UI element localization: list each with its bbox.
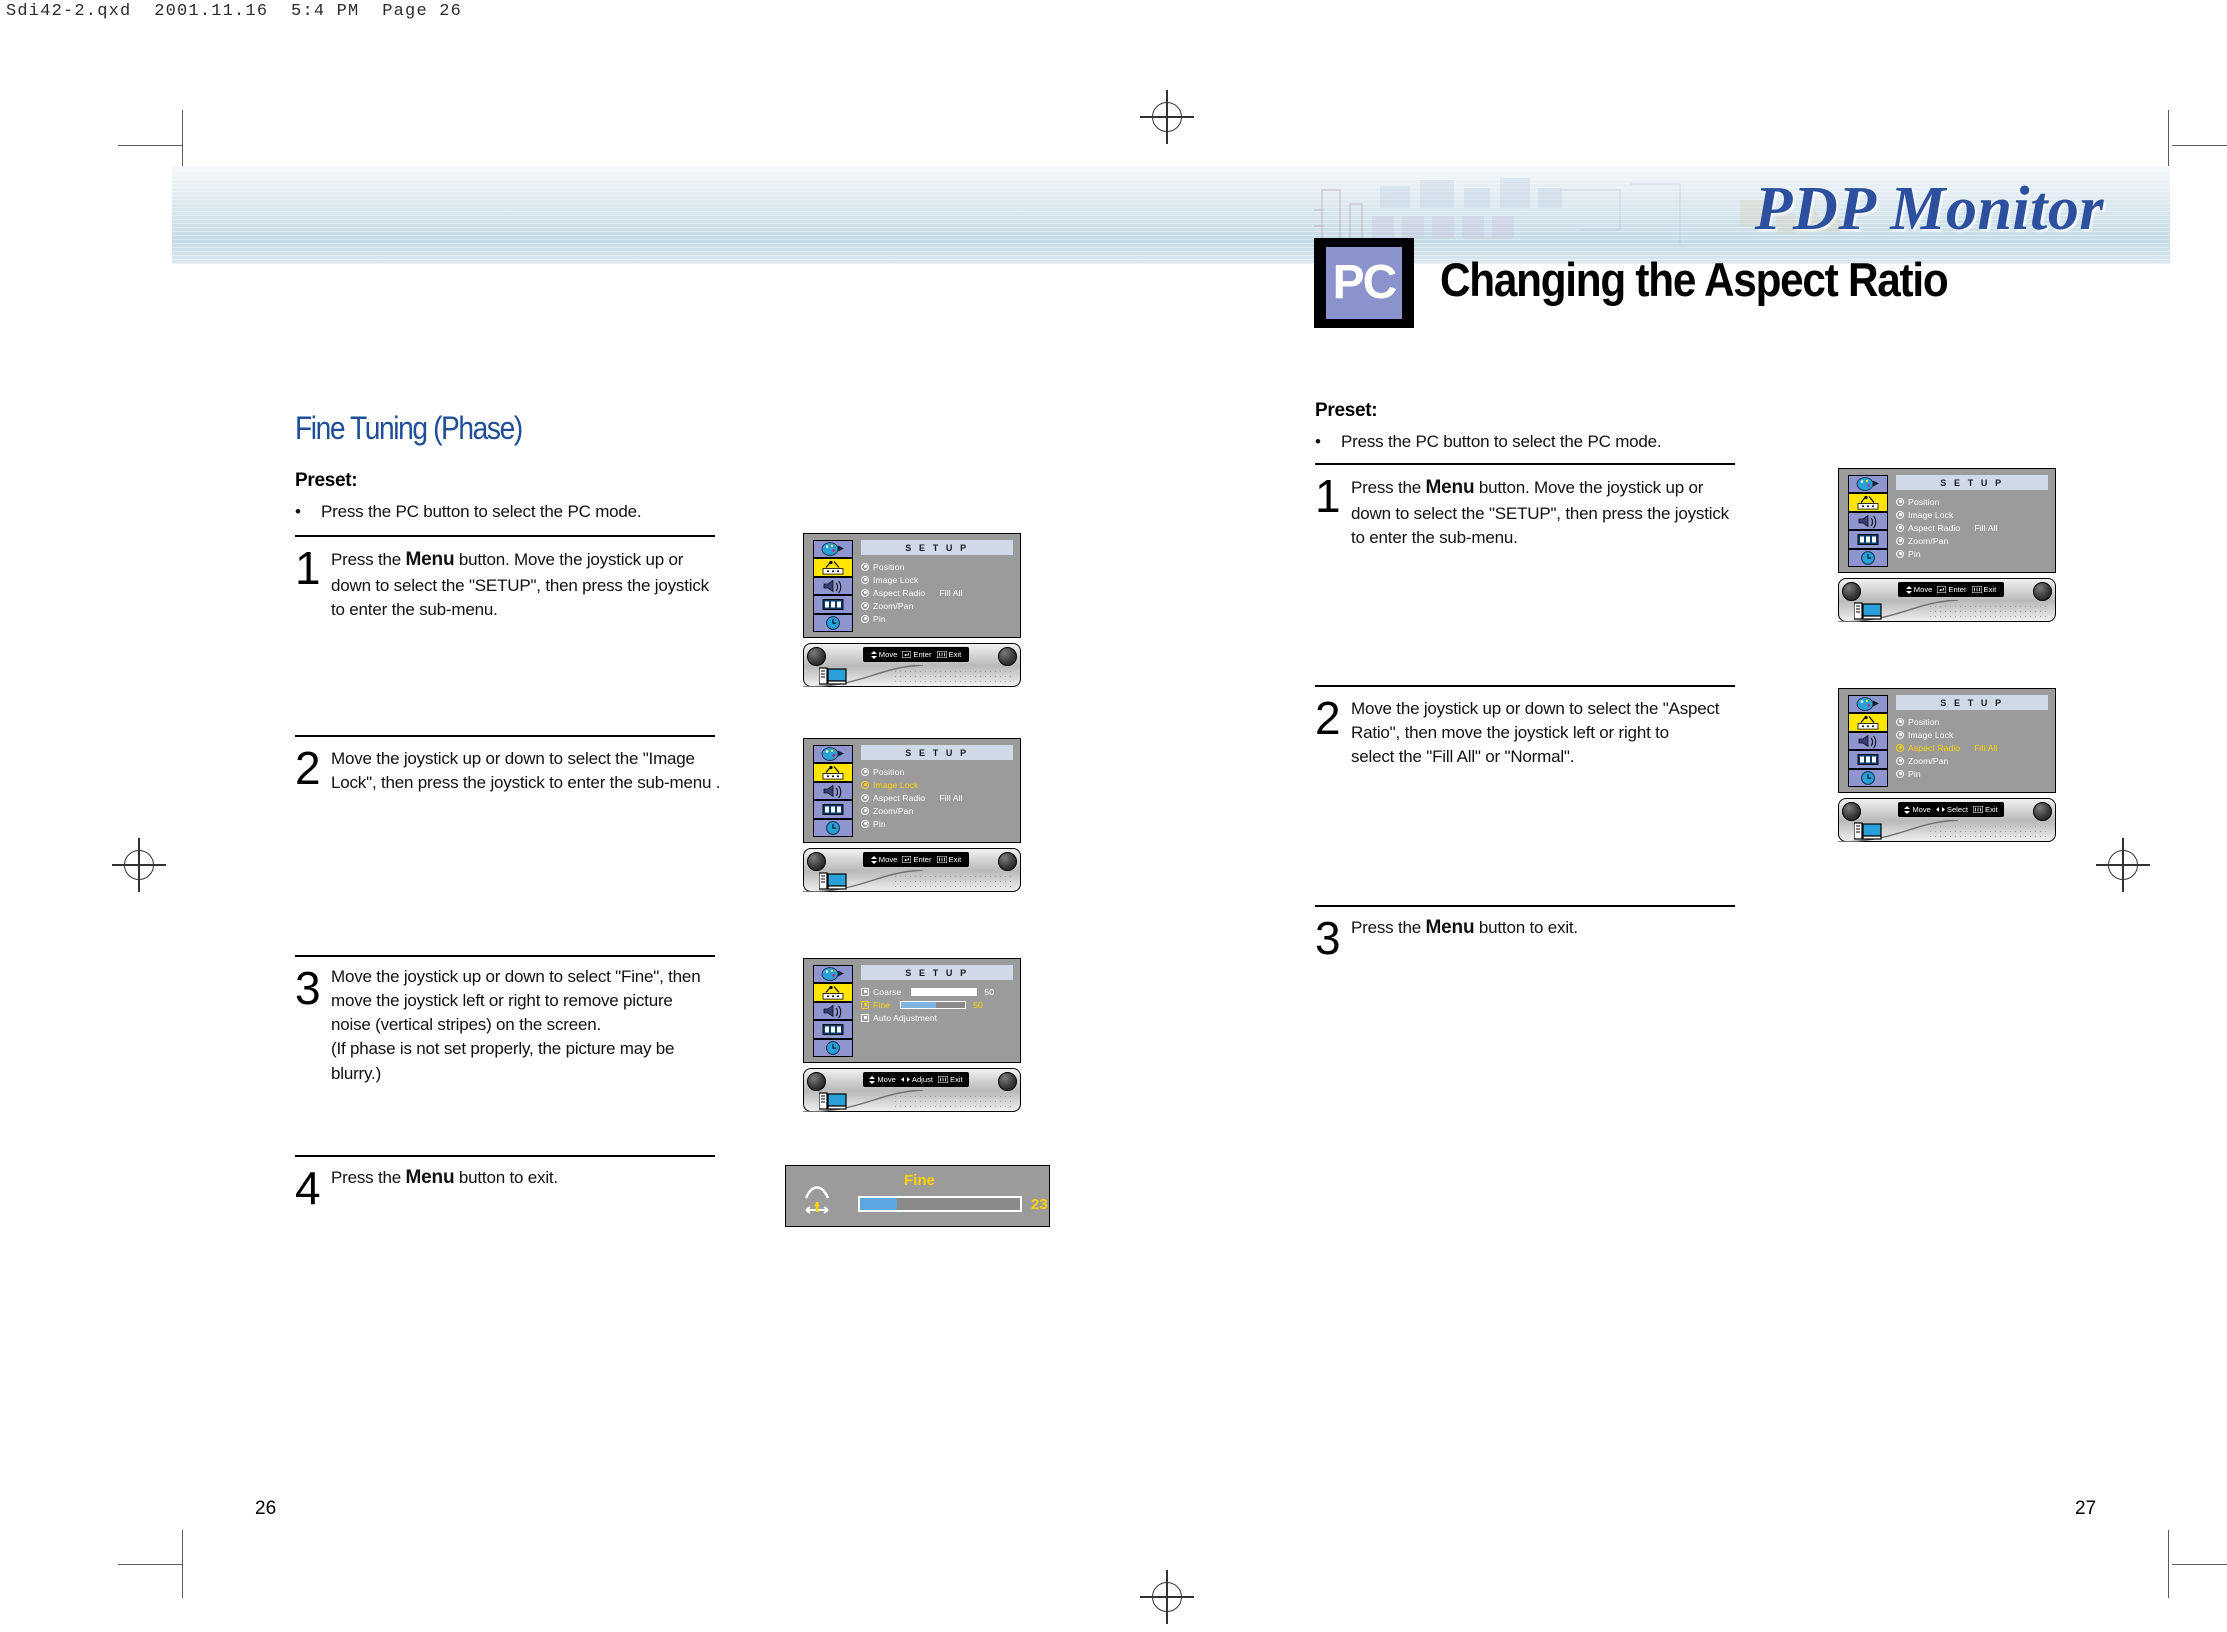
- osd-hint-bar: Move Select Exit: [1898, 802, 2004, 817]
- osd-title-bar: S E T U P: [1896, 475, 2048, 490]
- function-grid-icon[interactable]: [813, 595, 853, 613]
- hint-enter-label: Enter: [913, 650, 931, 659]
- menu-keyword: Menu: [406, 1167, 455, 1188]
- osd-row-fine[interactable]: Fine 50: [861, 998, 1017, 1011]
- step-body: Press the Menu button. Move the joystick…: [1351, 475, 1741, 550]
- osd-hint-bar: Move Adjust Exit: [863, 1072, 969, 1087]
- hint-exit: Exit: [1972, 585, 1997, 594]
- menu-key-icon: [1973, 806, 1983, 813]
- hint-enter-label: Enter: [1948, 585, 1966, 594]
- fine-adjust-popup: Fine 23: [785, 1165, 1050, 1227]
- step-rule: [295, 535, 715, 537]
- page-title: Changing the Aspect Ratio: [1440, 252, 1947, 307]
- osd-row-pin[interactable]: Pin: [1896, 547, 2052, 560]
- step-text-line2: Ratio", then move the joystick left or r…: [1351, 723, 1669, 742]
- osd-row-label: Position: [873, 562, 904, 572]
- page-number-right: 27: [2075, 1498, 2096, 1520]
- hint-enter: Enter: [902, 855, 931, 864]
- hint-move-label: Move: [877, 1075, 896, 1084]
- menu-key-icon: [1972, 586, 1982, 593]
- hint-exit: Exit: [937, 650, 962, 659]
- osd-row-position[interactable]: Position: [1896, 715, 2052, 728]
- right-preset-label: Preset:: [1315, 400, 1377, 422]
- osd-row-label: Zoom/Pan: [873, 806, 913, 816]
- picture-palette-icon[interactable]: [813, 745, 853, 763]
- registration-mark-left: [112, 838, 166, 892]
- step-text-a: Press the: [1351, 478, 1426, 497]
- step-rule: [1315, 905, 1735, 907]
- sound-speaker-icon[interactable]: [1848, 732, 1888, 750]
- osd-row-value: Fill All: [1974, 743, 1997, 753]
- radio-icon: [1896, 744, 1904, 752]
- monitor-icon: [819, 871, 847, 891]
- hint-exit-label: Exit: [949, 650, 962, 659]
- osd-dock-knob-left[interactable]: [807, 647, 826, 666]
- osd-title: S E T U P: [905, 543, 968, 553]
- step-body: Press the Menu button. Move the joystick…: [331, 547, 721, 622]
- left-preset-label: Preset:: [295, 470, 357, 492]
- step-number: 1: [1315, 473, 1341, 519]
- menu-key-icon: [937, 856, 947, 863]
- osd-title-bar: S E T U P: [861, 540, 1013, 555]
- step-text-line4: (If phase is not set properly, the pictu…: [331, 1039, 674, 1058]
- bullet-dot-icon: •: [1315, 432, 1341, 452]
- hint-adjust-label: Adjust: [912, 1075, 933, 1084]
- updown-arrow-icon: [1906, 586, 1912, 594]
- osd-row-zoom-pan[interactable]: Zoom/Pan: [861, 804, 1017, 817]
- osd-row-position[interactable]: Position: [861, 560, 1017, 573]
- fine-popup-fill: [860, 1198, 897, 1210]
- function-grid-icon[interactable]: [1848, 750, 1888, 768]
- step-text-a: Press the: [1351, 918, 1426, 937]
- osd-row-label: Zoom/Pan: [1908, 536, 1948, 546]
- osd-dock: Move Enter Exit: [1838, 572, 2056, 626]
- time-clock-icon[interactable]: [1848, 769, 1888, 787]
- osd-dock-speaker-dots: [1928, 604, 2048, 618]
- radio-icon: [861, 563, 869, 571]
- step-text-a: Press the: [331, 550, 406, 569]
- step-text-line1: Move the joystick up or down to select t…: [331, 749, 695, 768]
- hint-move: Move: [1906, 585, 1933, 594]
- step-rule: [295, 735, 715, 737]
- osd-screen: S E T U P Position Image Lock Aspect Rad…: [1838, 688, 2056, 793]
- step-text-line5: blurry.): [331, 1064, 381, 1083]
- hint-exit-label: Exit: [1984, 585, 1997, 594]
- crop-mark-bottom-left: [118, 1564, 182, 1565]
- square-bullet-icon: [861, 1001, 869, 1009]
- osd-row-label: Position: [873, 767, 904, 777]
- hint-exit: Exit: [938, 1075, 963, 1084]
- osd-menu-items: Position Image Lock Aspect RadioFill All…: [861, 560, 1017, 625]
- hint-exit: Exit: [937, 855, 962, 864]
- hint-move: Move: [871, 650, 898, 659]
- setup-tools-icon[interactable]: [1848, 493, 1888, 511]
- osd-title-bar: S E T U P: [1896, 695, 2048, 710]
- hint-enter-label: Enter: [913, 855, 931, 864]
- osd-icon-column: [1848, 475, 1888, 567]
- osd-row-label: Image Lock: [873, 575, 918, 585]
- enter-key-icon: [902, 856, 911, 863]
- osd-dock-knob-left[interactable]: [807, 852, 826, 871]
- osd-screen: S E T U P Position Image Lock Aspect Rad…: [803, 738, 1021, 843]
- radio-icon: [1896, 511, 1904, 519]
- osd-row-aspect-radio[interactable]: Aspect RadioFill All: [1896, 521, 2052, 534]
- right-preset-bullet-text: Press the PC button to select the PC mod…: [1341, 432, 1661, 451]
- osd-row-value: Fill All: [939, 793, 962, 803]
- banner-brand-title: PDP Monitor: [1755, 174, 2104, 245]
- osd-row-label: Aspect Radio: [1908, 523, 1960, 533]
- section-heading-fine-tuning: Fine Tuning (Phase): [295, 410, 522, 447]
- hint-exit-label: Exit: [950, 1075, 963, 1084]
- fine-popup-label: Fine: [904, 1172, 935, 1189]
- hint-enter: Enter: [902, 650, 931, 659]
- crop-mark-top-left: [118, 145, 182, 146]
- osd-row-label: Auto Adjustment: [873, 1013, 937, 1023]
- enter-key-icon: [902, 651, 911, 658]
- radio-icon: [1896, 718, 1904, 726]
- osd-dock-knob-left[interactable]: [807, 1072, 826, 1091]
- function-grid-icon[interactable]: [813, 800, 853, 818]
- hint-exit-label: Exit: [949, 855, 962, 864]
- step-text-c: button to exit.: [1474, 918, 1578, 937]
- radio-icon: [861, 768, 869, 776]
- osd-row-label: Pin: [1908, 769, 1921, 779]
- osd-screen: S E T U P Coarse 50 Fine 50 Auto Adjustm…: [803, 958, 1021, 1063]
- hint-move-label: Move: [1914, 585, 1933, 594]
- sound-speaker-icon[interactable]: [813, 577, 853, 595]
- step-text-c: button. Move the joystick up or: [1474, 478, 1703, 497]
- osd-dock: Move Enter Exit: [803, 637, 1021, 691]
- step-number: 4: [295, 1165, 321, 1211]
- monitor-icon: [1854, 601, 1882, 621]
- osd-row-value: Fill All: [939, 588, 962, 598]
- monitor-icon: [819, 666, 847, 686]
- function-grid-icon[interactable]: [1848, 530, 1888, 548]
- right-preset-bullet: •Press the PC button to select the PC mo…: [1315, 432, 1661, 452]
- time-clock-icon[interactable]: [1848, 549, 1888, 567]
- osd-dock-knob-right[interactable]: [998, 647, 1017, 666]
- registration-mark-top: [1140, 90, 1194, 144]
- osd-row-label: Pin: [873, 614, 886, 624]
- osd-screenshot-aspect-selected: S E T U P Position Image Lock Aspect Rad…: [1838, 688, 2056, 846]
- radio-icon: [861, 807, 869, 815]
- osd-row-label: Image Lock: [873, 780, 918, 790]
- osd-row-label: Aspect Radio: [873, 588, 925, 598]
- osd-screenshot-image-lock-selected: S E T U P Position Image Lock Aspect Rad…: [803, 738, 1021, 896]
- osd-row-label: Image Lock: [1908, 730, 1953, 740]
- time-clock-icon[interactable]: [813, 614, 853, 632]
- coarse-slider[interactable]: [911, 988, 977, 996]
- osd-row-auto-adjustment[interactable]: Auto Adjustment: [861, 1011, 1017, 1024]
- osd-row-label: Pin: [873, 819, 886, 829]
- menu-keyword: Menu: [1426, 477, 1475, 498]
- osd-row-position[interactable]: Position: [1896, 495, 2052, 508]
- osd-row-label: Zoom/Pan: [1908, 756, 1948, 766]
- fine-popup-track[interactable]: [858, 1196, 1022, 1212]
- osd-title: S E T U P: [905, 748, 968, 758]
- step-rule: [1315, 685, 1735, 687]
- step-number: 2: [1315, 695, 1341, 741]
- fine-value: 50: [973, 1000, 983, 1010]
- crop-mark-bottom-right: [2172, 1564, 2227, 1565]
- step-text-line3: to enter the sub-menu.: [331, 600, 498, 619]
- osd-screen: S E T U P Position Image Lock Aspect Rad…: [803, 533, 1021, 638]
- osd-screenshot-setup-right: S E T U P Position Image Lock Aspect Rad…: [1838, 468, 2056, 626]
- osd-dock: Move Enter Exit: [803, 842, 1021, 896]
- page-number-left: 26: [255, 1498, 276, 1520]
- osd-dock-speaker-dots: [893, 1094, 1013, 1108]
- monitor-icon: [819, 1091, 847, 1111]
- step-rule: [295, 955, 715, 957]
- step-text-line3: to enter the sub-menu.: [1351, 528, 1518, 547]
- step-number: 3: [295, 965, 321, 1011]
- setup-tools-icon[interactable]: [813, 763, 853, 781]
- osd-dock-speaker-dots: [893, 669, 1013, 683]
- osd-row-image-lock[interactable]: Image Lock: [1896, 728, 2052, 741]
- osd-dock-knob-right[interactable]: [998, 852, 1017, 871]
- step-text-line1: Move the joystick up or down to select "…: [331, 967, 700, 986]
- square-bullet-icon: [861, 1014, 869, 1022]
- step-text-c: button to exit.: [454, 1168, 558, 1187]
- setup-tools-icon[interactable]: [813, 983, 853, 1001]
- osd-dock-knob-right[interactable]: [2033, 802, 2052, 821]
- radio-icon: [861, 794, 869, 802]
- osd-dock-knob-left[interactable]: [1842, 582, 1861, 601]
- hint-move-label: Move: [879, 855, 898, 864]
- osd-row-image-lock[interactable]: Image Lock: [1896, 508, 2052, 521]
- osd-title-bar: S E T U P: [861, 965, 1013, 980]
- radio-icon: [1896, 498, 1904, 506]
- sound-speaker-icon[interactable]: [813, 1002, 853, 1020]
- hint-exit: Exit: [1973, 805, 1998, 814]
- radio-icon: [861, 602, 869, 610]
- step-text-a: Press the: [331, 1168, 406, 1187]
- radio-icon: [861, 781, 869, 789]
- step-text-line2: Lock", then press the joystick to enter …: [331, 773, 720, 792]
- step-text-line2: down to select the "SETUP", then press t…: [1351, 504, 1729, 523]
- crop-mark-right-bottom: [2168, 1530, 2169, 1598]
- step-rule: [295, 1155, 715, 1157]
- osd-row-position[interactable]: Position: [861, 765, 1017, 778]
- osd-row-label: Fine: [873, 1000, 890, 1010]
- step-body: Move the joystick up or down to select "…: [331, 965, 721, 1086]
- left-preset-bullet-text: Press the PC button to select the PC mod…: [321, 502, 641, 521]
- osd-screenshot-setup-plain: S E T U P Position Image Lock Aspect Rad…: [803, 533, 1021, 691]
- osd-icon-column: [813, 965, 853, 1057]
- fine-popup-value: 23: [1031, 1196, 1048, 1213]
- hint-exit-label: Exit: [1985, 805, 1998, 814]
- step-number: 1: [295, 545, 321, 591]
- left-preset-bullet: •Press the PC button to select the PC mo…: [295, 502, 641, 522]
- bullet-dot-icon: •: [295, 502, 321, 522]
- function-grid-icon[interactable]: [813, 1020, 853, 1038]
- phase-waveform-icon: [802, 1182, 850, 1216]
- osd-dock: Move Adjust Exit: [803, 1062, 1021, 1116]
- radio-icon: [1896, 537, 1904, 545]
- osd-row-aspect-radio[interactable]: Aspect RadioFill All: [861, 586, 1017, 599]
- registration-mark-bottom: [1140, 1570, 1194, 1624]
- radio-icon: [1896, 524, 1904, 532]
- radio-icon: [1896, 770, 1904, 778]
- updown-arrow-icon: [871, 856, 877, 864]
- monitor-icon: [1854, 821, 1882, 841]
- leftright-arrow-icon: [901, 1076, 910, 1083]
- radio-icon: [1896, 757, 1904, 765]
- picture-palette-icon[interactable]: [1848, 695, 1888, 713]
- osd-screen: S E T U P Position Image Lock Aspect Rad…: [1838, 468, 2056, 573]
- step-body: Press the Menu button to exit.: [1351, 915, 1741, 942]
- radio-icon: [861, 589, 869, 597]
- updown-arrow-icon: [1904, 806, 1910, 814]
- radio-icon: [1896, 550, 1904, 558]
- osd-row-label: Position: [1908, 497, 1939, 507]
- osd-row-image-lock[interactable]: Image Lock: [861, 573, 1017, 586]
- radio-icon: [1896, 731, 1904, 739]
- menu-keyword: Menu: [1426, 917, 1475, 938]
- step-text-line3: select the "Fill All" or "Normal".: [1351, 747, 1574, 766]
- osd-hint-bar: Move Enter Exit: [1898, 582, 2004, 597]
- pc-mode-badge: PC: [1314, 238, 1414, 328]
- osd-row-label: Aspect Radio: [873, 793, 925, 803]
- hint-adjust: Adjust: [901, 1075, 933, 1084]
- step-text-line1: Move the joystick up or down to select t…: [1351, 699, 1719, 718]
- osd-icon-column: [1848, 695, 1888, 787]
- radio-icon: [861, 615, 869, 623]
- menu-key-icon: [938, 1076, 948, 1083]
- step-number: 2: [295, 745, 321, 791]
- picture-palette-icon[interactable]: [1848, 475, 1888, 493]
- osd-row-pin[interactable]: Pin: [1896, 767, 2052, 780]
- enter-key-icon: [1937, 586, 1946, 593]
- osd-row-zoom-pan[interactable]: Zoom/Pan: [1896, 534, 2052, 547]
- osd-icon-column: [813, 745, 853, 837]
- updown-arrow-icon: [869, 1076, 875, 1084]
- hint-move-label: Move: [879, 650, 898, 659]
- registration-mark-right: [2096, 838, 2150, 892]
- osd-dock-knob-right[interactable]: [998, 1072, 1017, 1091]
- osd-hint-bar: Move Enter Exit: [863, 852, 969, 867]
- osd-row-coarse[interactable]: Coarse 50: [861, 985, 1017, 998]
- osd-title: S E T U P: [1940, 698, 2003, 708]
- hint-move: Move: [1904, 805, 1931, 814]
- osd-dock: Move Select Exit: [1838, 792, 2056, 846]
- osd-menu-items: Position Image Lock Aspect RadioFill All…: [1896, 495, 2052, 560]
- menu-keyword: Menu: [406, 549, 455, 570]
- osd-menu-items: Position Image Lock Aspect RadioFill All…: [861, 765, 1017, 830]
- osd-row-label: Position: [1908, 717, 1939, 727]
- radio-icon: [861, 576, 869, 584]
- square-bullet-icon: [861, 988, 869, 996]
- time-clock-icon[interactable]: [813, 1039, 853, 1057]
- sound-speaker-icon[interactable]: [1848, 512, 1888, 530]
- sound-speaker-icon[interactable]: [813, 782, 853, 800]
- osd-menu-items: Position Image Lock Aspect RadioFill All…: [1896, 715, 2052, 780]
- osd-row-value: Fill All: [1974, 523, 1997, 533]
- hint-move: Move: [871, 855, 898, 864]
- osd-row-zoom-pan[interactable]: Zoom/Pan: [861, 599, 1017, 612]
- osd-row-label: Zoom/Pan: [873, 601, 913, 611]
- osd-row-pin[interactable]: Pin: [861, 817, 1017, 830]
- menu-key-icon: [937, 651, 947, 658]
- crop-mark-left-bottom: [182, 1530, 183, 1598]
- pc-badge-inner: PC: [1326, 247, 1402, 319]
- osd-screenshot-image-lock-submenu: S E T U P Coarse 50 Fine 50 Auto Adjustm…: [803, 958, 1021, 1116]
- setup-tools-icon[interactable]: [1848, 713, 1888, 731]
- osd-dock-knob-right[interactable]: [2033, 582, 2052, 601]
- osd-icon-column: [813, 540, 853, 632]
- osd-title: S E T U P: [905, 968, 968, 978]
- picture-palette-icon[interactable]: [813, 540, 853, 558]
- step-rule: [1315, 463, 1735, 465]
- osd-dock-knob-left[interactable]: [1842, 802, 1861, 821]
- osd-row-zoom-pan[interactable]: Zoom/Pan: [1896, 754, 2052, 767]
- osd-row-label: Aspect Radio: [1908, 743, 1960, 753]
- step-text-line2: down to select the "SETUP", then press t…: [331, 576, 709, 595]
- hint-move: Move: [869, 1075, 896, 1084]
- step-body: Move the joystick up or down to select t…: [331, 747, 721, 795]
- print-header: Sdi42-2.qxd 2001.11.16 5:4 PM Page 26: [6, 2, 462, 21]
- osd-hint-bar: Move Enter Exit: [863, 647, 969, 662]
- osd-title: S E T U P: [1940, 478, 2003, 488]
- hint-select: Select: [1936, 805, 1968, 814]
- coarse-value: 50: [984, 987, 994, 997]
- osd-row-image-lock[interactable]: Image Lock: [861, 778, 1017, 791]
- osd-row-label: Pin: [1908, 549, 1921, 559]
- page-banner: PDP Monitor: [172, 166, 2170, 264]
- hint-move-label: Move: [1912, 805, 1931, 814]
- osd-row-pin[interactable]: Pin: [861, 612, 1017, 625]
- step-text-line3: noise (vertical stripes) on the screen.: [331, 1015, 601, 1034]
- osd-dock-speaker-dots: [893, 874, 1013, 888]
- osd-row-label: Coarse: [873, 987, 901, 997]
- hint-select-label: Select: [1947, 805, 1968, 814]
- setup-tools-icon[interactable]: [813, 558, 853, 576]
- pc-badge-label: PC: [1333, 259, 1396, 307]
- osd-menu-items: Coarse 50 Fine 50 Auto Adjustment: [861, 985, 1017, 1024]
- step-body: Move the joystick up or down to select t…: [1351, 697, 1741, 769]
- step-text-c: button. Move the joystick up or: [454, 550, 683, 569]
- leftright-arrow-icon: [1936, 806, 1945, 813]
- updown-arrow-icon: [871, 651, 877, 659]
- crop-mark-top-right: [2172, 145, 2227, 146]
- osd-dock-speaker-dots: [1928, 824, 2048, 838]
- step-number: 3: [1315, 915, 1341, 961]
- osd-row-aspect-radio[interactable]: Aspect RadioFill All: [861, 791, 1017, 804]
- hint-enter: Enter: [1937, 585, 1966, 594]
- time-clock-icon[interactable]: [813, 819, 853, 837]
- step-body: Press the Menu button to exit.: [331, 1165, 721, 1192]
- osd-title-bar: S E T U P: [861, 745, 1013, 760]
- fine-slider[interactable]: [900, 1001, 966, 1009]
- radio-icon: [861, 820, 869, 828]
- step-text-line2: move the joystick left or right to remov…: [331, 991, 673, 1010]
- osd-row-aspect-radio[interactable]: Aspect RadioFill All: [1896, 741, 2052, 754]
- osd-row-label: Image Lock: [1908, 510, 1953, 520]
- picture-palette-icon[interactable]: [813, 965, 853, 983]
